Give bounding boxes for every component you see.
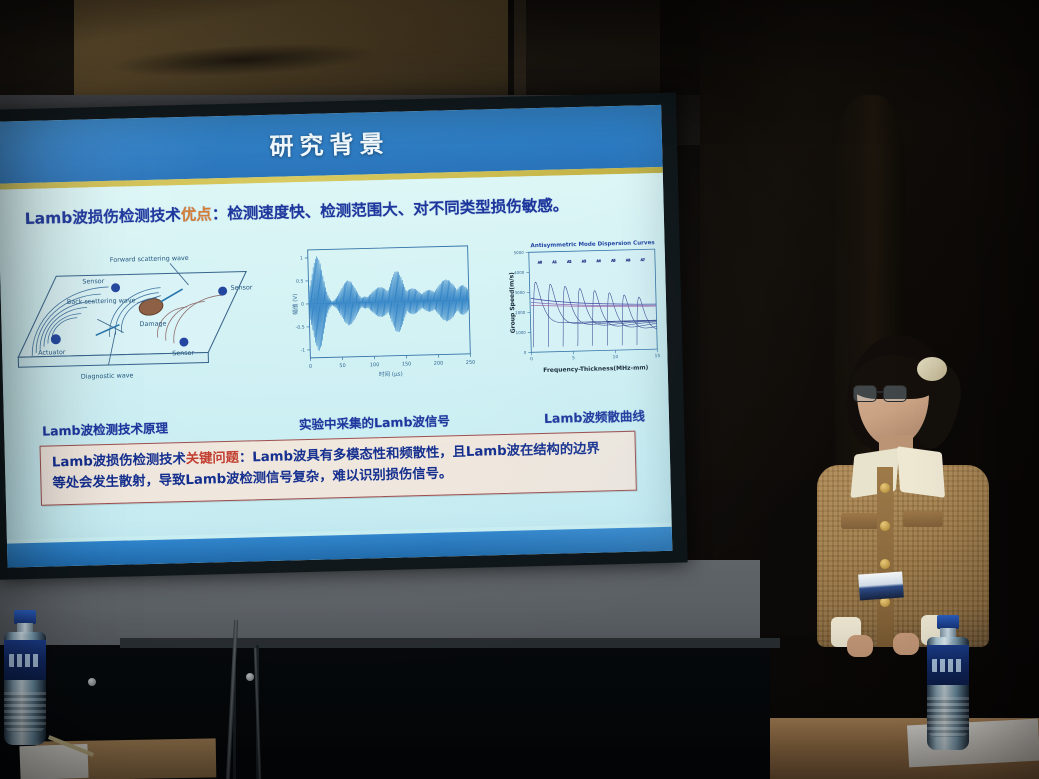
collar-right: [897, 446, 945, 498]
svg-text:A5: A5: [611, 259, 615, 263]
hand-right: [893, 633, 919, 655]
panel-knob-icon: [246, 673, 254, 681]
svg-text:A7: A7: [641, 258, 645, 262]
figure-lamb-signal: 050 100150 200250 10.5 0-0.5 -1 时间 (μs) …: [287, 238, 481, 393]
panel-knob-icon: [88, 678, 96, 686]
svg-text:1000: 1000: [516, 330, 527, 335]
fig3-xlabel: Frequency-Thickness(MHz-mm): [543, 364, 649, 374]
bullet-highlight: 优点: [181, 205, 212, 224]
svg-text:A4: A4: [597, 259, 601, 263]
svg-text:200: 200: [434, 361, 444, 367]
bottle-label: [927, 645, 969, 685]
water-bottle-right: [925, 615, 971, 750]
slide: 研究背景 Lamb波损伤检测技术优点：检测速度快、检测范围大、对不同类型损伤敏感…: [0, 105, 672, 568]
svg-text:150: 150: [402, 361, 412, 367]
bullet-prefix: Lamb波损伤检测技术: [25, 206, 181, 228]
stage-edge: [120, 638, 780, 648]
figure-caption-3: Lamb波频散曲线: [544, 405, 645, 427]
water-bottle-left: [2, 610, 48, 745]
bottle-ribs: [927, 697, 969, 737]
presenter: [795, 335, 1010, 665]
keybox-prefix: Lamb波损伤检测技术: [52, 452, 186, 470]
figure-row: Forward scattering wave Sensor Back scat…: [10, 233, 662, 414]
svg-text:5: 5: [572, 355, 575, 361]
painting-frame: [514, 0, 526, 95]
label-diagnostic-wave: Diagnostic wave: [81, 371, 134, 380]
bottle-label: [4, 640, 46, 680]
label-sensor: Sensor: [230, 283, 252, 292]
svg-text:0: 0: [301, 302, 304, 308]
svg-text:0: 0: [530, 356, 533, 362]
jacket-button: [880, 483, 890, 493]
label-actuator: Actuator: [38, 348, 66, 357]
svg-text:A3: A3: [582, 259, 586, 263]
label-forward-scattering: Forward scattering wave: [110, 254, 189, 264]
figure-lamb-principle: Forward scattering wave Sensor Back scat…: [10, 243, 272, 399]
projection-screen: 研究背景 Lamb波损伤检测技术优点：检测速度快、检测范围大、对不同类型损伤敏感…: [0, 93, 688, 580]
jacket-pocket: [841, 513, 881, 529]
presentation-photo: 研究背景 Lamb波损伤检测技术优点：检测速度快、检测范围大、对不同类型损伤敏感…: [0, 0, 1039, 779]
painting: [74, 0, 514, 100]
svg-text:4000: 4000: [514, 270, 525, 275]
glasses-icon: [853, 385, 911, 402]
label-sensor: Sensor: [172, 349, 194, 358]
name-badge: [858, 571, 904, 600]
svg-text:5000: 5000: [514, 250, 525, 255]
jacket-pocket: [903, 511, 943, 527]
svg-text:A6: A6: [626, 258, 630, 262]
jacket-button: [880, 521, 890, 531]
svg-text:A1: A1: [552, 260, 556, 264]
svg-text:1: 1: [300, 256, 303, 262]
svg-text:100: 100: [370, 362, 380, 368]
svg-text:0: 0: [309, 364, 312, 370]
svg-text:-0.5: -0.5: [296, 325, 305, 331]
fig2-xlabel: 时间 (μs): [379, 370, 403, 379]
svg-text:A2: A2: [567, 260, 571, 264]
svg-text:3000: 3000: [515, 290, 526, 295]
jacket-button: [880, 559, 890, 569]
bottle-cap: [937, 615, 959, 629]
keybox-highlight: 关键问题: [186, 451, 240, 467]
jacket-placket: [877, 467, 893, 647]
figure-dispersion-curves: Antisymmetric Mode Dispersion Curves A0A…: [504, 233, 668, 387]
svg-text:A0: A0: [538, 260, 542, 264]
bottle-cap: [14, 610, 36, 624]
label-sensor: Sensor: [82, 277, 104, 286]
svg-text:15: 15: [655, 353, 661, 359]
svg-text:0.5: 0.5: [296, 279, 304, 285]
figure-caption-2: 实验中采集的Lamb波信号: [299, 410, 450, 433]
hand-left: [847, 635, 873, 657]
bottle-ribs: [4, 692, 46, 732]
svg-text:2000: 2000: [515, 310, 526, 315]
svg-text:10: 10: [613, 354, 619, 360]
svg-text:50: 50: [339, 363, 346, 369]
hair-tie: [917, 357, 947, 381]
label-damage: Damage: [139, 320, 166, 329]
fig3-ylabel: Group Speed(m/s): [508, 272, 517, 334]
svg-text:0: 0: [524, 350, 527, 355]
fig2-ylabel: 幅值 (V): [291, 294, 300, 315]
fig3-title: Antisymmetric Mode Dispersion Curves: [530, 240, 655, 249]
svg-text:-1: -1: [301, 347, 306, 353]
figure-caption-1: Lamb波检测技术原理: [42, 418, 168, 440]
svg-text:250: 250: [466, 360, 476, 366]
